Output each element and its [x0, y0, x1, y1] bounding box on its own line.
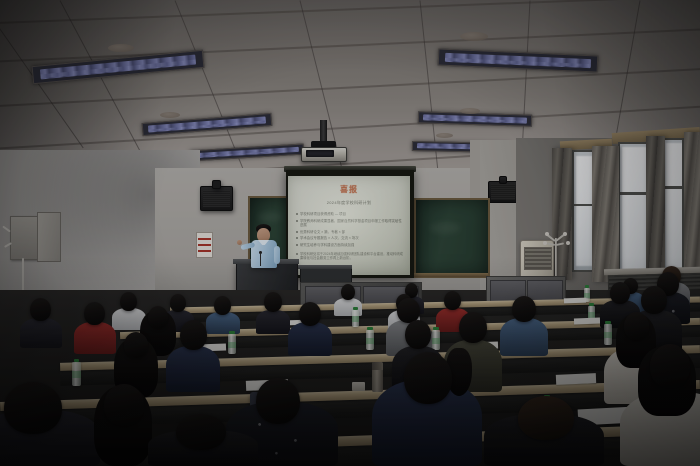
wall-speaker-right-bracket — [499, 176, 507, 184]
water-bottle — [228, 334, 236, 354]
slide-bullet-text: 学院教师科研成果显著，国家自然科学基金项目申报工作取得突破性进展 — [300, 219, 404, 228]
audience-head — [641, 286, 667, 314]
audience-head — [124, 332, 148, 358]
audience-head-foreground — [256, 378, 300, 424]
audience-shoulders — [206, 312, 240, 334]
slide-subtitle: 2024年度学校科研计划 — [288, 200, 410, 206]
lecture-hall-photo: 喜报 2024年度学校科研计划 学校科研项目获得资助 — 项目 学院教师科研成果… — [0, 0, 700, 466]
audience-shoulders — [20, 318, 62, 348]
ceiling-air-vent — [460, 32, 488, 41]
wall-speaker-right — [488, 181, 518, 203]
bullet-dot-icon — [296, 220, 298, 222]
coat-rack-knob — [566, 241, 570, 245]
projector-mount-rod — [320, 120, 327, 142]
projector-lens — [306, 150, 334, 157]
bullet-dot-icon — [296, 213, 298, 215]
chalkboard-rail — [412, 273, 488, 277]
slide-bullet-item: 优秀科研论文 × 篇，专著 × 部 — [296, 230, 404, 234]
water-bottle — [352, 310, 359, 327]
window-curtain — [646, 136, 665, 276]
audience-shoulders — [74, 322, 116, 354]
audience-head — [30, 298, 51, 321]
microphone-stand — [260, 254, 261, 266]
electrical-panel — [10, 216, 38, 260]
audience-head-foreground — [404, 352, 452, 404]
safety-notice-sign — [196, 232, 213, 258]
slide-bullet-item: 学术会议专题报告 × 人次，交流 × 场次 — [296, 236, 404, 240]
projection-screen: 喜报 2024年度学校科研计划 学校科研项目获得资助 — 项目 学院教师科研成果… — [288, 176, 410, 275]
paper-sheet — [574, 318, 600, 325]
audience-head — [180, 320, 207, 350]
microphone-head-icon — [259, 251, 262, 254]
water-bottle — [366, 330, 374, 350]
window-curtain — [592, 146, 619, 282]
slide-bullet-text: 学校科研项目获得资助 — 项目 — [300, 212, 346, 216]
coat-rack-knob — [563, 232, 567, 236]
paper-sheet — [556, 373, 596, 385]
slide-bullet-item: 学院教师科研成果显著，国家自然科学基金项目申报工作取得突破性进展 — [296, 219, 404, 228]
audience-head-foreground — [650, 344, 690, 388]
thermos — [372, 362, 383, 392]
slide-bullet-text: 研究生培养与学科建设方面持续加强 — [300, 243, 354, 247]
slide-footnote: 学校科研处将于2024年继续加强科研团队建设和平台建设，推动科研成果转化与社会服… — [296, 252, 404, 261]
audience-head-foreground — [518, 396, 574, 440]
slide-bullet-item: 研究生培养与学科建设方面持续加强 — [296, 243, 404, 247]
audience-shoulders — [256, 310, 290, 334]
presenter-hand — [237, 240, 242, 245]
electrical-panel-door — [37, 212, 61, 262]
audience-head — [299, 302, 321, 326]
audience-shoulders — [288, 322, 332, 356]
water-bottle — [72, 362, 81, 386]
presenter-arm — [274, 246, 280, 264]
wall-speaker-left — [200, 186, 233, 211]
water-bottle — [604, 324, 612, 345]
slide-bullet-text: 优秀科研论文 × 篇，专著 × 部 — [300, 230, 345, 234]
audience-head — [610, 282, 630, 304]
coat-rack-knob — [543, 241, 547, 245]
chalk-smudge — [430, 222, 460, 234]
audience-head-foreground — [176, 414, 226, 450]
wall-speaker-bracket — [212, 180, 221, 189]
ceiling-air-vent — [108, 44, 134, 52]
chalkboard — [414, 198, 490, 278]
ceiling-air-vent — [436, 133, 453, 138]
audience-head — [148, 306, 168, 328]
audience-head — [341, 284, 355, 300]
ceiling-air-vent — [160, 112, 180, 118]
cup — [352, 382, 365, 391]
air-conditioner-vent — [524, 247, 552, 270]
ceiling-air-vent — [460, 108, 480, 114]
window-curtain — [684, 132, 700, 276]
slide-bullet-list: 学校科研项目获得资助 — 项目 学院教师科研成果显著，国家自然科学基金项目申报工… — [296, 212, 404, 249]
slide-bullet-item: 学校科研项目获得资助 — 项目 — [296, 212, 404, 216]
audience-head — [120, 292, 137, 311]
audience-shoulders — [166, 346, 220, 392]
audience-head — [264, 292, 282, 312]
audience-head — [444, 291, 461, 310]
wall-conduit — [22, 258, 24, 292]
audience-head — [459, 312, 487, 343]
audience-head-foreground — [4, 382, 62, 434]
audience-head — [624, 312, 649, 340]
paper-sheet — [564, 298, 586, 304]
audience-shoulders — [500, 318, 548, 356]
bullet-dot-icon — [296, 231, 298, 233]
audience-head-foreground — [104, 384, 144, 426]
audience-head — [512, 296, 536, 322]
water-bottle — [432, 330, 440, 350]
coat-rack-knob — [545, 232, 549, 236]
bullet-dot-icon — [296, 244, 298, 246]
chalk-smudge — [258, 212, 282, 222]
audience-head — [84, 302, 105, 325]
slide-title: 喜报 — [288, 184, 410, 195]
audience-head — [170, 294, 186, 312]
audience-head — [214, 296, 231, 315]
podium-panel-top — [298, 265, 352, 269]
slide-bullet-text: 学术会议专题报告 × 人次，交流 × 场次 — [300, 236, 359, 240]
bullet-dot-icon — [296, 237, 298, 239]
slide-footnote-text: 学校科研处将于2024年继续加强科研团队建设和平台建设，推动科研成果转化与社会服… — [300, 252, 404, 261]
bullet-dot-icon — [296, 253, 298, 255]
audience-head — [405, 320, 431, 349]
